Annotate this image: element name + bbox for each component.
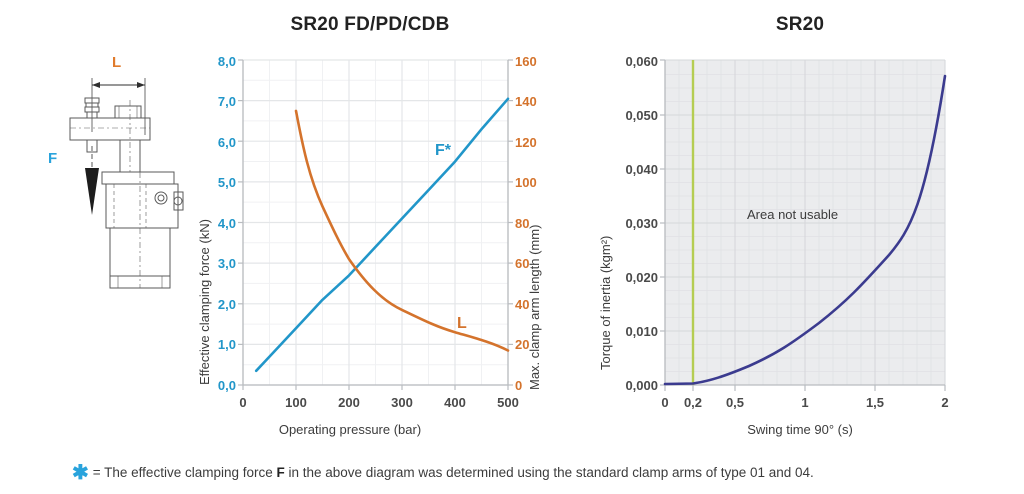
chart-sr20-fd-pd-cdb: Effective clamping force (kN) Max. clamp… <box>185 50 545 445</box>
figure-root: L F SR20 FD/PD/CDB SR20 Effective clampi… <box>0 0 1024 494</box>
footnote-text-after: in the above diagram was determined usin… <box>285 465 814 480</box>
series-label-force: F* <box>435 142 451 160</box>
chart-sr20-swing-time: Torque of inertia (kgm²) Swing time 90° … <box>580 50 980 445</box>
clamp-technical-drawing: L F <box>30 40 195 290</box>
dimension-label-force: F <box>48 150 57 167</box>
plot-area-left <box>185 50 545 445</box>
footnote-bold-symbol: F <box>277 465 285 480</box>
chart-title-left: SR20 FD/PD/CDB <box>200 14 540 36</box>
dimension-label-length: L <box>112 54 121 71</box>
area-not-usable-label: Area not usable <box>747 207 838 222</box>
series-line-effective-clamping-force <box>256 99 508 371</box>
plot-area-right <box>580 50 980 445</box>
footnote-text-before: = The effective clamping force <box>93 465 277 480</box>
force-arrow-icon <box>85 146 99 215</box>
footnote: ✱= The effective clamping force F in the… <box>72 460 972 486</box>
asterisk-icon: ✱ <box>72 462 89 484</box>
series-label-length: L <box>457 315 467 333</box>
chart-title-right: SR20 <box>640 14 960 36</box>
